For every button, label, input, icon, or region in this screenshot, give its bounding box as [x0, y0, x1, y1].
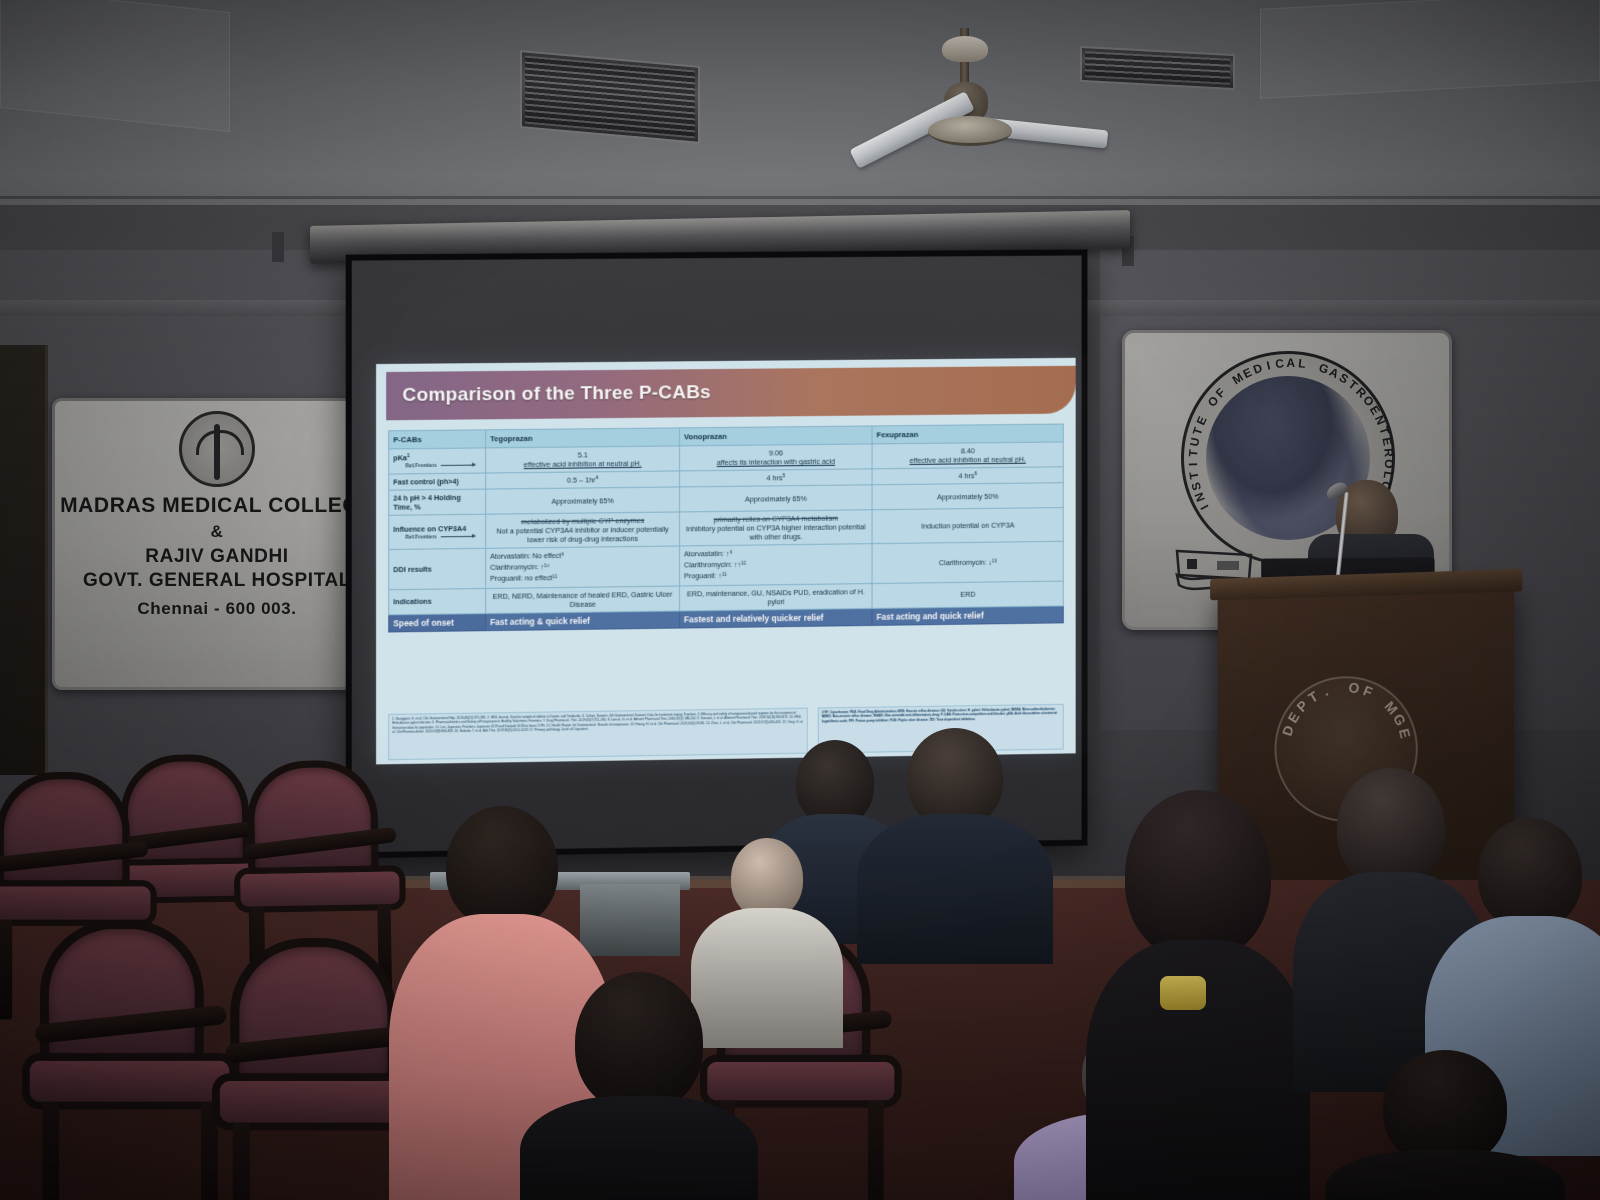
chair-leg [868, 1100, 884, 1200]
audience-head [1125, 790, 1271, 960]
cell-indications-vonoprazan: ERD, maintenance, GU, NSAIDs PUD, eradic… [679, 583, 872, 610]
cell-holding-tegoprazan: Approximately 65% [486, 487, 680, 514]
audience-head [575, 972, 703, 1112]
chair-leg [42, 1102, 59, 1200]
row-label-indications: Indications [389, 588, 486, 614]
footnote-references: 1. Sunggeon, S. et al. Clin Gastroentero… [388, 708, 808, 761]
slide-title: Comparison of the Three P-CABs [386, 382, 711, 407]
pcab-comparison-table: P-CABs Tegoprazan Vonoprazan Fexuprazan … [388, 424, 1064, 633]
cell-pka-fexuprazan: 8.40 effective acid inhibition at neutra… [872, 442, 1063, 469]
chair-back [230, 938, 396, 1084]
hair-accessory [1160, 976, 1206, 1010]
row-label-cyp3a4: Influence on CYP3A4 Ref.Frontiers [389, 515, 486, 550]
caduceus-emblem-icon [179, 411, 255, 487]
fan-hub [928, 116, 1012, 146]
audience-torso [1325, 1150, 1565, 1200]
cell-holding-fexuprazan: Approximately 50% [872, 483, 1063, 510]
audience-member [860, 728, 1050, 958]
row-label-speed-of-onset: Speed of onset [389, 613, 486, 631]
row-label-pka: pKa1 Ref.Frontiers [389, 448, 486, 474]
cell-onset-fexuprazan: Fast acting and quick relief [872, 606, 1063, 625]
presentation-slide: Comparison of the Three P-CABs P-CABs Te… [376, 358, 1076, 765]
cell-pka-vonoprazan: 9.06 affects its interaction with gastri… [679, 444, 872, 471]
ceiling-seam [0, 196, 1600, 199]
audience-head [731, 838, 803, 918]
sign-line-ampersand: & [55, 522, 379, 543]
lecture-hall-photo: MADRAS MEDICAL COLLEGE & RAJIV GANDHI GO… [0, 0, 1600, 1200]
ceiling-fan-icon [900, 18, 1240, 168]
sign-line-rajiv-gandhi: RAJIV GANDHI [55, 545, 379, 568]
cell-pka-tegoprazan: 5.1 effective acid inhibition at neutral… [486, 446, 680, 473]
audience-member [1330, 1050, 1560, 1200]
cell-holding-vonoprazan: Approximately 65% [679, 485, 872, 512]
institution-name-board: MADRAS MEDICAL COLLEGE & RAJIV GANDHI GO… [52, 398, 382, 690]
row-reference-note: Ref.Frontiers [393, 534, 481, 541]
sign-line-hospital: GOVT. GENERAL HOSPITAL [55, 569, 379, 592]
audience-torso [857, 814, 1053, 964]
cell-cyp-vonoprazan: primarily relies on CYP3A4 metabolism In… [679, 510, 872, 546]
slide-title-bar: Comparison of the Three P-CABs [386, 366, 1075, 421]
row-label-holding-time: 24 h pH > 4 Holding Time, % [389, 489, 486, 515]
chair-leg [0, 920, 12, 1020]
audience-head [1383, 1050, 1507, 1166]
chair-back [40, 920, 204, 1063]
column-header-tegoprazan: Tegoprazan [486, 428, 680, 448]
sign-line-city: Chennai - 600 003. [55, 599, 379, 620]
cell-indications-fexuprazan: ERD [872, 581, 1063, 608]
audience-head [907, 728, 1003, 828]
column-header-vonoprazan: Vonoprazan [679, 426, 872, 446]
audience-member [524, 972, 754, 1200]
air-vent-icon [520, 50, 700, 144]
cell-cyp-tegoprazan: metabolized by multiple CYP enzymes Not … [486, 512, 680, 548]
door[interactable] [0, 345, 48, 775]
cell-ddi-tegoprazan: Atorvastatin: No effect⁹ Clarithromycin:… [486, 546, 680, 588]
cell-ddi-vonoprazan: Atorvastatin: ↑⁹ Clarithromycin: ↑↑¹² Pr… [679, 544, 872, 586]
audience-head [1337, 768, 1445, 888]
fan-canopy [942, 36, 988, 62]
row-reference-note: Ref.Frontiers [393, 463, 481, 470]
cell-cyp-fexuprazan: Induction potential on CYP3A [872, 508, 1063, 544]
cell-indications-tegoprazan: ERD, NERD, Maintenance of healed ERD, Ga… [486, 586, 680, 614]
cell-onset-vonoprazan: Fastest and relatively quicker relief [679, 608, 872, 628]
chair-back [246, 759, 379, 876]
audience-head [446, 806, 558, 928]
column-header-pcabs: P-CABs [389, 430, 486, 449]
chair-leg [233, 1123, 250, 1200]
chair-back [0, 772, 130, 888]
sign-line-college: MADRAS MEDICAL COLLEGE [55, 493, 379, 519]
cell-onset-tegoprazan: Fast acting & quick relief [486, 611, 680, 631]
cell-ddi-fexuprazan: Clarithromycin: ↓¹³ [872, 542, 1063, 584]
row-label-ddi: DDI results [389, 549, 486, 590]
audience-torso [520, 1096, 758, 1200]
row-label-fast-control: Fast control (ph>4) [389, 473, 486, 491]
column-header-fexuprazan: Fexuprazan [872, 424, 1063, 444]
screen-bracket [272, 232, 284, 262]
audience-head [1478, 818, 1582, 930]
